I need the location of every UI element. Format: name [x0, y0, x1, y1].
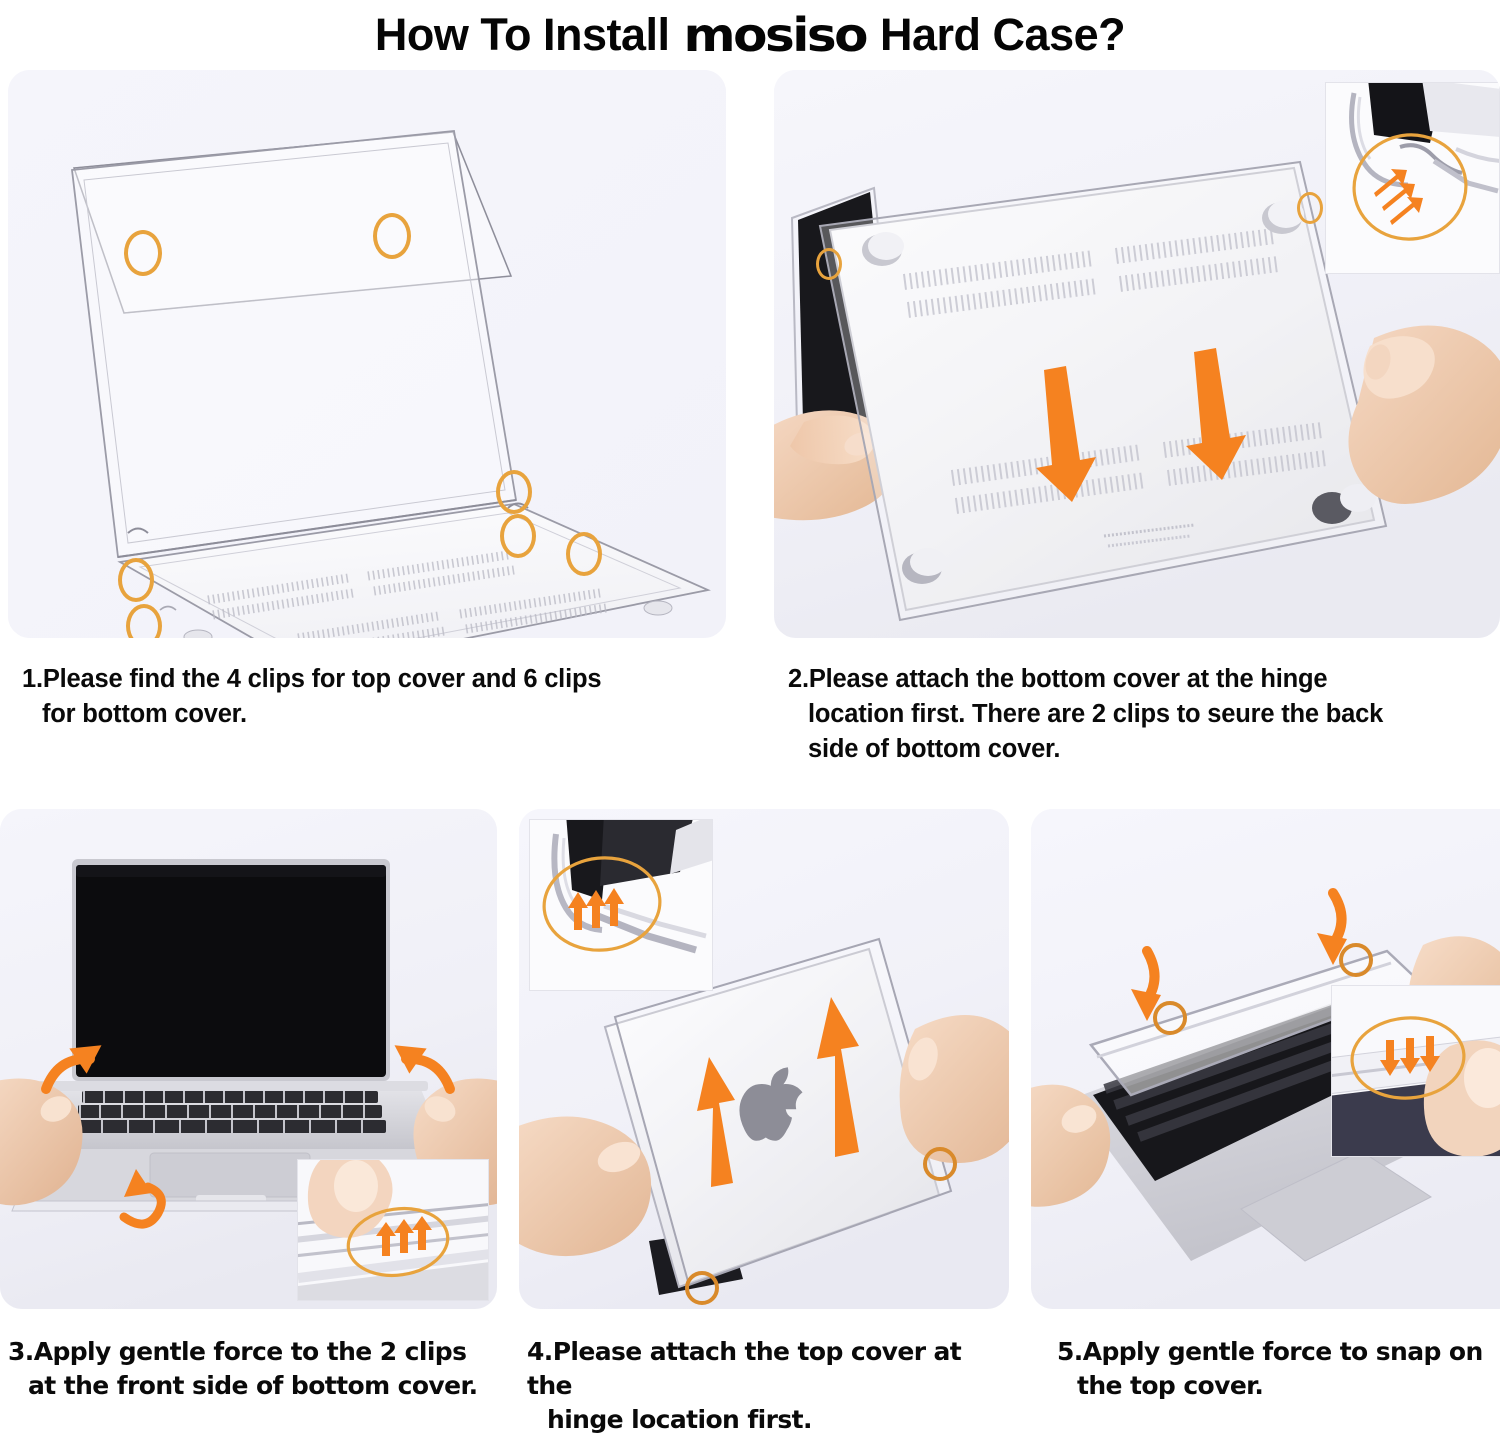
thumb-snap-closeup — [1332, 986, 1500, 1157]
step-2-inset-detail — [1325, 82, 1500, 274]
open-clear-case-illustration — [8, 70, 726, 638]
step-3-inset-detail — [297, 1159, 489, 1301]
clip-marker-mid-right-lower — [500, 514, 536, 558]
step-2-image — [774, 70, 1500, 638]
step-2: 2.Please attach the bottom cover at the … — [774, 70, 1500, 767]
step-2-caption-line-2: location first. There are 2 clips to seu… — [788, 697, 1494, 732]
step-1-caption-line-2: for bottom cover. — [22, 697, 720, 732]
mosiso-logo: mosiso — [684, 8, 866, 62]
step-5-caption-line-2: the top cover. — [1057, 1369, 1500, 1403]
step-1-caption-line-1: 1.Please find the 4 clips for top cover … — [22, 662, 720, 697]
clip-marker-far-right — [566, 532, 602, 576]
step-1-caption: 1.Please find the 4 clips for top cover … — [8, 638, 726, 732]
title-prefix: How To Install — [375, 9, 670, 61]
step-3: 3.Apply gentle force to the 2 clips at t… — [0, 809, 497, 1438]
top-cover-hinge-closeup — [530, 820, 713, 991]
step-4-image — [519, 809, 1009, 1309]
step-5-image — [1031, 809, 1500, 1309]
hinge-clip-marker-right — [1297, 192, 1323, 224]
step-3-caption-line-2: at the front side of bottom cover. — [8, 1369, 493, 1403]
step-3-image — [0, 809, 497, 1309]
step-3-caption-line-1: 3.Apply gentle force to the 2 clips — [8, 1335, 493, 1369]
step-5-caption-line-1: 5.Apply gentle force to snap on — [1057, 1335, 1500, 1369]
steps-row-bottom: 3.Apply gentle force to the 2 clips at t… — [0, 809, 1500, 1438]
step-4-caption-line-2: hinge location first. — [527, 1403, 1005, 1437]
step-2-caption-line-3: side of bottom cover. — [788, 732, 1494, 767]
snap-clip-marker-left — [1153, 1001, 1187, 1035]
steps-row-top: 1.Please find the 4 clips for top cover … — [0, 70, 1500, 767]
hinge-clip-marker-left — [816, 248, 842, 280]
step-5-caption: 5.Apply gentle force to snap on the top … — [1031, 1309, 1500, 1404]
hinge-clip-closeup — [1326, 83, 1500, 274]
thumb-press-clip-closeup — [298, 1160, 489, 1301]
step-4-caption: 4.Please attach the top cover at the hin… — [519, 1309, 1009, 1438]
step-5-inset-detail — [1331, 985, 1500, 1157]
clip-marker-top-right — [373, 213, 411, 259]
snap-clip-marker-right — [1339, 943, 1373, 977]
top-cover-clip-marker-bottom — [685, 1271, 719, 1305]
step-2-caption-line-1: 2.Please attach the bottom cover at the … — [788, 662, 1494, 697]
step-3-caption: 3.Apply gentle force to the 2 clips at t… — [0, 1309, 497, 1404]
page-header: How To Install mosiso Hard Case? — [0, 0, 1500, 70]
step-4: 4.Please attach the top cover at the hin… — [519, 809, 1009, 1438]
step-5: 5.Apply gentle force to snap on the top … — [1031, 809, 1500, 1438]
step-2-caption: 2.Please attach the bottom cover at the … — [774, 638, 1500, 767]
step-1: 1.Please find the 4 clips for top cover … — [8, 70, 726, 767]
title-suffix: Hard Case? — [880, 9, 1125, 61]
step-1-image — [8, 70, 726, 638]
step-4-caption-line-1: 4.Please attach the top cover at the — [527, 1335, 1005, 1404]
step-4-inset-detail — [529, 819, 713, 991]
clip-marker-mid-right-upper — [496, 470, 532, 514]
top-cover-clip-marker-right — [923, 1147, 957, 1181]
clip-marker-left-hinge — [118, 558, 154, 602]
clip-marker-top-left — [124, 230, 162, 276]
